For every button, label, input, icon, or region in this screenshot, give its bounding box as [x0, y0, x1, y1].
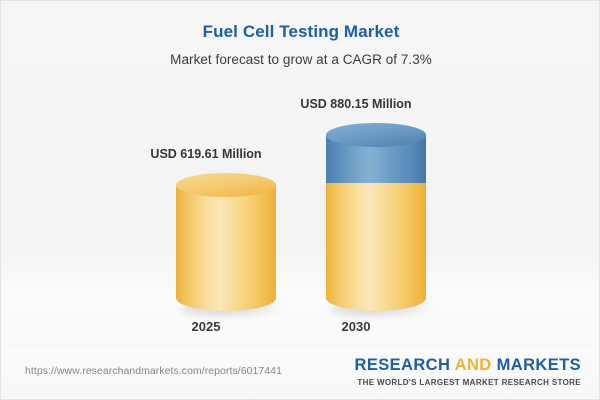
brand-name: RESEARCH AND MARKETS [355, 357, 582, 374]
infographic-card: Fuel Cell Testing Market Market forecast… [0, 0, 600, 400]
x-tick-label-2025: 2025 [136, 319, 276, 334]
bar-cap-2025 [176, 173, 276, 197]
brand-name-and: AND [455, 356, 492, 374]
brand-tagline: THE WORLD'S LARGEST MARKET RESEARCH STOR… [355, 379, 582, 387]
x-tick-label-2030: 2030 [286, 319, 426, 334]
brand-logo: RESEARCH AND MARKETS THE WORLD'S LARGEST… [355, 357, 582, 387]
footer: https://www.researchandmarkets.com/repor… [1, 349, 600, 399]
source-url-link[interactable]: https://www.researchandmarkets.com/repor… [25, 365, 282, 377]
brand-name-part1: RESEARCH [355, 356, 455, 374]
brand-name-part2: MARKETS [492, 356, 581, 374]
bar-cap-2030 [326, 123, 426, 147]
value-label-2025: USD 619.61 Million [106, 147, 306, 161]
bar-segment-base-2025 [176, 185, 276, 311]
chart-plot-area: USD 619.61 Million 2025 USD 880.15 Milli… [1, 1, 600, 400]
bar-segment-base-2030 [326, 181, 426, 311]
value-label-2030: USD 880.15 Million [256, 97, 456, 111]
